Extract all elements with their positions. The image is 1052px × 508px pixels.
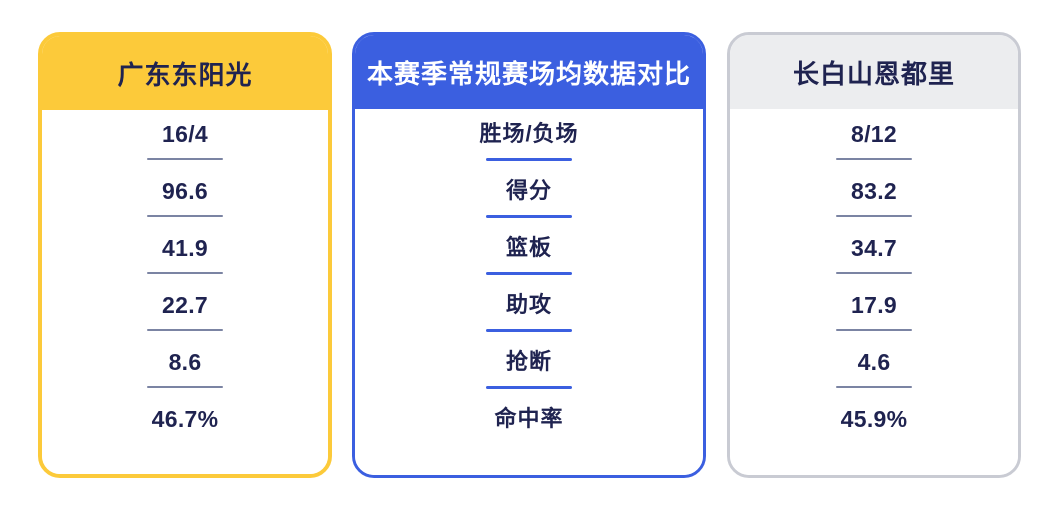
- stat-row: 34.7: [730, 233, 1018, 290]
- metric-label: 命中率: [494, 404, 563, 434]
- metric-row: 得分: [355, 176, 703, 233]
- metric-row: 胜场/负场: [355, 119, 703, 176]
- metrics-card-center: 本赛季常规赛场均数据对比 胜场/负场 得分 篮板 助攻 抢断: [352, 32, 706, 478]
- team-card-left: 广东东阳光 16/4 96.6 41.9 22.7 8.6: [38, 32, 332, 478]
- metric-row: 助攻: [355, 290, 703, 347]
- team-right-title: 长白山恩都里: [730, 35, 1018, 109]
- metric-label: 得分: [506, 176, 552, 206]
- stat-value: 8/12: [851, 119, 897, 149]
- row-divider: [486, 272, 572, 275]
- stat-value: 83.2: [851, 176, 897, 206]
- row-divider: [147, 215, 223, 217]
- stat-row: 46.7%: [42, 404, 328, 461]
- metric-row: 命中率: [355, 404, 703, 461]
- metric-label: 胜场/负场: [479, 119, 578, 149]
- stat-value: 45.9%: [841, 404, 908, 434]
- stat-row: 4.6: [730, 347, 1018, 404]
- stat-row: 96.6: [42, 176, 328, 233]
- team-card-right: 长白山恩都里 8/12 83.2 34.7 17.9 4.6: [727, 32, 1021, 478]
- row-divider: [147, 272, 223, 274]
- metric-label: 篮板: [506, 233, 552, 263]
- stat-value: 34.7: [851, 233, 897, 263]
- row-divider: [836, 386, 912, 388]
- stat-value: 41.9: [162, 233, 208, 263]
- row-divider: [147, 158, 223, 160]
- row-divider: [486, 386, 572, 389]
- row-divider: [836, 158, 912, 160]
- row-divider: [147, 329, 223, 331]
- stat-row: 41.9: [42, 233, 328, 290]
- stat-value: 8.6: [169, 347, 202, 377]
- stat-row: 22.7: [42, 290, 328, 347]
- stat-value: 46.7%: [152, 404, 219, 434]
- stat-value: 96.6: [162, 176, 208, 206]
- metric-row: 抢断: [355, 347, 703, 404]
- row-divider: [836, 272, 912, 274]
- stat-row: 17.9: [730, 290, 1018, 347]
- row-divider: [486, 215, 572, 218]
- stat-row: 8.6: [42, 347, 328, 404]
- stat-row: 16/4: [42, 119, 328, 176]
- stat-row: 8/12: [730, 119, 1018, 176]
- stat-value: 4.6: [858, 347, 891, 377]
- row-divider: [836, 329, 912, 331]
- row-divider: [486, 158, 572, 161]
- metric-label-list: 胜场/负场 得分 篮板 助攻 抢断 命中率: [355, 109, 703, 475]
- metric-label: 抢断: [506, 347, 552, 377]
- team-left-stats: 16/4 96.6 41.9 22.7 8.6 46.7%: [42, 110, 328, 474]
- comparison-title: 本赛季常规赛场均数据对比: [355, 35, 703, 109]
- metric-label: 助攻: [506, 290, 552, 320]
- comparison-infographic: 广东东阳光 16/4 96.6 41.9 22.7 8.6: [0, 0, 1052, 508]
- metric-row: 篮板: [355, 233, 703, 290]
- row-divider: [836, 215, 912, 217]
- stat-row: 83.2: [730, 176, 1018, 233]
- row-divider: [147, 386, 223, 388]
- stat-value: 16/4: [162, 119, 208, 149]
- team-right-stats: 8/12 83.2 34.7 17.9 4.6 45.9%: [730, 109, 1018, 475]
- row-divider: [486, 329, 572, 332]
- stat-value: 22.7: [162, 290, 208, 320]
- stat-value: 17.9: [851, 290, 897, 320]
- team-left-title: 广东东阳光: [42, 36, 328, 110]
- stat-row: 45.9%: [730, 404, 1018, 461]
